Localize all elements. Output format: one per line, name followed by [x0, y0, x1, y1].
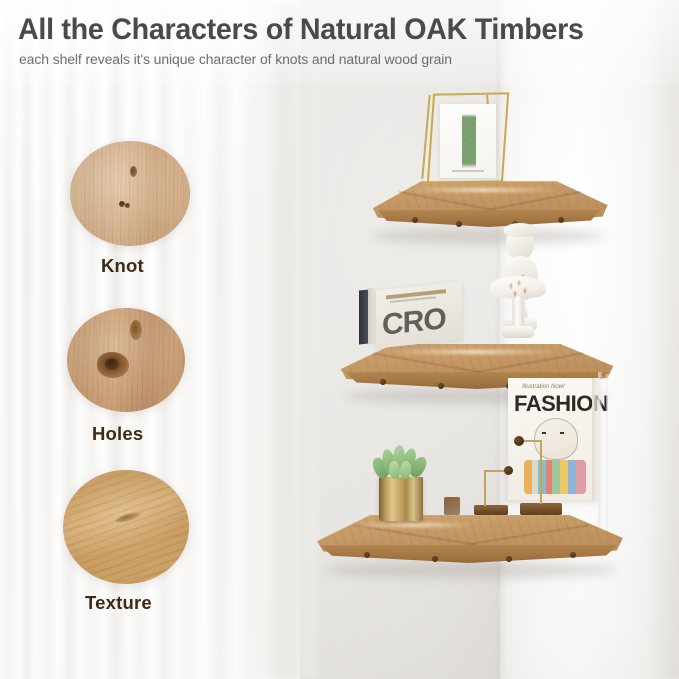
fashion-illustration-dress [524, 460, 586, 494]
top-shelf-highlight [408, 188, 558, 192]
fashion-illustration-eye [542, 432, 546, 434]
vase-gold-floral-detail [506, 280, 532, 302]
shelf-dowel [456, 221, 462, 227]
shelf-dowel [380, 379, 386, 385]
fern-art-print [440, 104, 496, 178]
art-caption-line [452, 170, 484, 172]
page-subtitle: each shelf reveals it's unique character… [19, 52, 452, 68]
brass-arm-vertical-left [484, 470, 486, 506]
shelf-dowel [412, 217, 418, 223]
fern-illustration [462, 114, 476, 168]
ceramic-vase [488, 276, 548, 352]
hole-mark-upper [130, 320, 142, 340]
top-shelf-shadow [372, 228, 604, 244]
shelf-dowel [570, 552, 576, 558]
swatch-label-knot: Knot [101, 255, 144, 277]
top-shelf [368, 176, 610, 228]
swatch-label-texture: Texture [85, 592, 152, 614]
swatch-knot [70, 141, 190, 246]
vase-foot [502, 326, 534, 338]
bottom-shelf [314, 512, 626, 564]
shelf-dowel [364, 552, 370, 558]
wooden-base-right [520, 503, 562, 515]
shelf-dowel [506, 556, 512, 562]
swatch-label-holes: Holes [92, 423, 143, 445]
book-spine-light [368, 288, 376, 345]
wooden-block [444, 497, 460, 515]
header-band: All the Characters of Natural OAK Timber… [0, 0, 679, 84]
shelf-dowel [438, 383, 444, 389]
swatch-texture-shading [63, 470, 189, 584]
brass-arm-vertical-right [540, 440, 542, 504]
bottom-shelf-highlight [354, 523, 474, 527]
page-title: All the Characters of Natural OAK Timber… [18, 13, 584, 47]
swatch-holes [67, 308, 185, 412]
book-cover-lettering: CRO [382, 302, 456, 342]
shelf-dowel [558, 217, 564, 223]
fashion-illustration-eye [560, 432, 564, 434]
shelf-dowel [432, 556, 438, 562]
product-marketing-image: CRO Illustration Now! FASHION [0, 0, 679, 679]
curtain-edge-shadow [248, 0, 318, 679]
hole-mark-core [105, 358, 119, 370]
bust-hair [504, 223, 536, 237]
brass-arm-ball-right [514, 436, 524, 446]
brass-pot [379, 477, 423, 521]
succulent-leaf [399, 460, 412, 479]
swatch-knot-shading [70, 141, 190, 246]
wooden-base-left [474, 505, 508, 515]
knot-mark-lower-2 [125, 203, 130, 208]
swatch-texture [63, 470, 189, 584]
bottom-shelf-shadow [325, 562, 617, 578]
book-cover-front: CRO [376, 281, 462, 348]
brass-arm-ball-left [504, 466, 513, 475]
knot-mark-upper [130, 166, 137, 177]
succulent-plant [372, 443, 430, 483]
fashion-book-kicker: Illustration Now! [522, 384, 565, 390]
